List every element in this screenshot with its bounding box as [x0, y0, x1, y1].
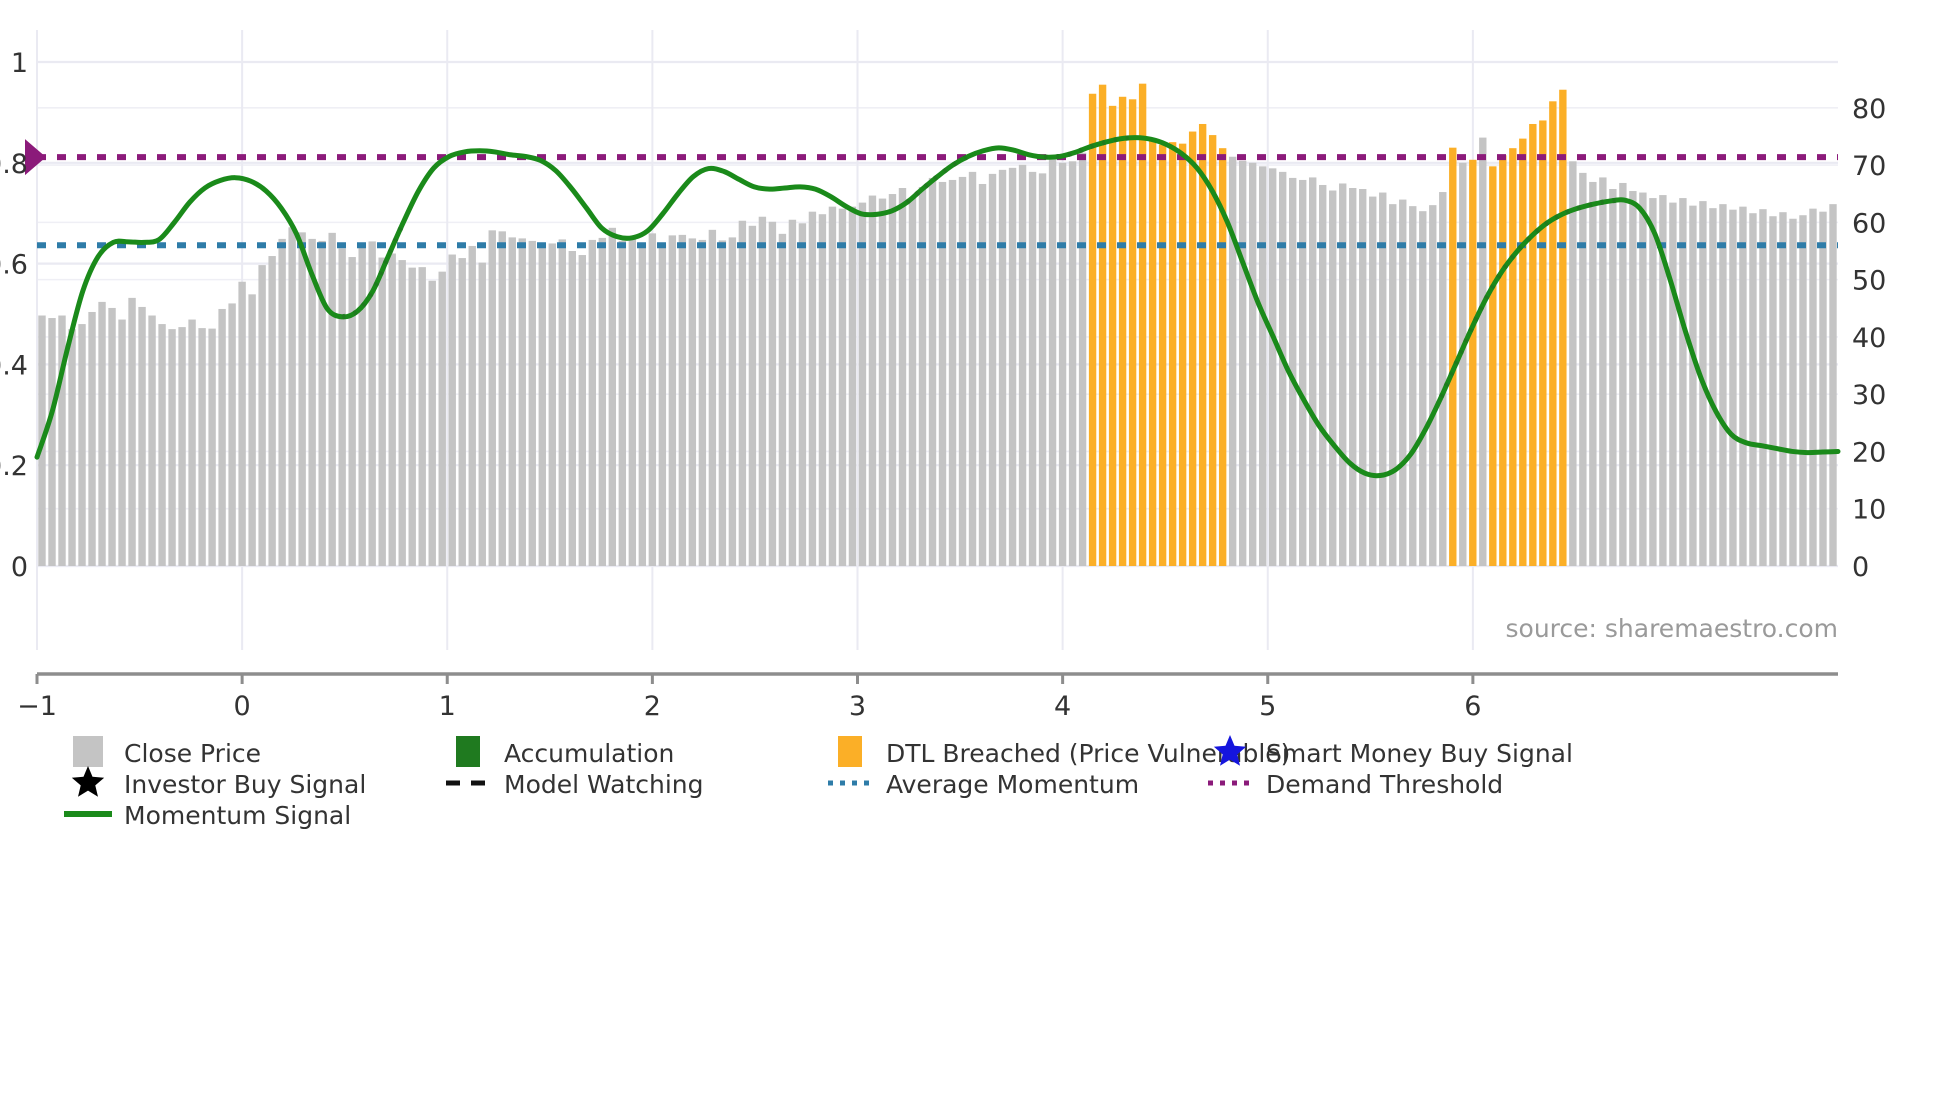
- bar-dtl-breached: [1489, 166, 1496, 566]
- bar-close-price: [1299, 180, 1306, 566]
- bar-close-price: [1709, 208, 1716, 566]
- bar-close-price: [148, 316, 155, 566]
- bar-close-price: [1409, 206, 1416, 566]
- bar-close-price: [459, 258, 466, 566]
- bar-close-price: [889, 194, 896, 566]
- bar-close-price: [969, 172, 976, 566]
- bar-close-price: [709, 230, 716, 566]
- bar-close-price: [749, 226, 756, 566]
- bar-close-price: [789, 220, 796, 566]
- y-axis-right-tick-label: 50: [1852, 266, 1886, 297]
- bar-close-price: [669, 235, 676, 566]
- bar-close-price: [268, 256, 275, 566]
- bar-close-price: [499, 231, 506, 566]
- bar-close-price: [358, 246, 365, 566]
- bar-close-price: [1689, 206, 1696, 566]
- bar-close-price: [719, 240, 726, 566]
- bar-close-price: [1009, 168, 1016, 566]
- bar-close-price: [1479, 138, 1486, 566]
- legend-label: Average Momentum: [886, 770, 1139, 799]
- bar-close-price: [1809, 209, 1816, 566]
- bar-close-price: [469, 246, 476, 566]
- bar-close-price: [999, 170, 1006, 566]
- bar-close-price: [378, 258, 385, 566]
- bar-close-price: [68, 329, 75, 566]
- bar-close-price: [909, 198, 916, 566]
- bar-close-price: [1819, 212, 1826, 566]
- legend-label: Smart Money Buy Signal: [1266, 739, 1573, 768]
- bar-close-price: [178, 327, 185, 566]
- bar-close-price: [1259, 166, 1266, 566]
- bar-close-price: [228, 303, 235, 566]
- bar-close-price: [1569, 161, 1576, 566]
- legend-label: Accumulation: [504, 739, 674, 768]
- bar-close-price: [98, 302, 105, 566]
- bar-dtl-breached: [1529, 124, 1536, 566]
- bar-close-price: [949, 180, 956, 566]
- bar-dtl-breached: [1159, 145, 1166, 566]
- x-axis-tick-label: 5: [1259, 691, 1276, 722]
- bar-close-price: [258, 265, 265, 566]
- bar-close-price: [218, 309, 225, 566]
- y-axis-left-tick-label: 0: [11, 552, 28, 583]
- bar-close-price: [1429, 205, 1436, 566]
- bar-close-price: [1079, 153, 1086, 566]
- y-axis-right-tick-label: 20: [1852, 437, 1886, 468]
- bar-close-price: [929, 178, 936, 566]
- y-axis-left-tick-label: 0.8: [0, 149, 28, 180]
- bar-close-price: [1319, 185, 1326, 566]
- bar-dtl-breached: [1509, 148, 1516, 566]
- legend-label: Investor Buy Signal: [124, 770, 366, 799]
- y-axis-right-tick-label: 10: [1852, 495, 1886, 526]
- bar-close-price: [549, 243, 556, 566]
- bar-close-price: [829, 207, 836, 566]
- x-axis-tick-label: 0: [234, 691, 251, 722]
- legend-label: Demand Threshold: [1266, 770, 1503, 799]
- bar-dtl-breached: [1539, 120, 1546, 566]
- bar-close-price: [449, 255, 456, 566]
- bar-close-price: [1599, 177, 1606, 566]
- bar-close-price: [1739, 207, 1746, 566]
- bar-dtl-breached: [1559, 90, 1566, 566]
- bar-close-price: [809, 212, 816, 566]
- bar-close-price: [729, 237, 736, 566]
- bar-dtl-breached: [1549, 101, 1556, 566]
- y-axis-right-tick-label: 60: [1852, 208, 1886, 239]
- bar-close-price: [278, 239, 285, 566]
- x-axis-tick-label: 6: [1464, 691, 1481, 722]
- bar-close-price: [298, 232, 305, 566]
- bar-close-price: [649, 233, 656, 566]
- bar-close-price: [699, 240, 706, 566]
- legend-square-swatch-icon: [73, 736, 103, 767]
- bar-close-price: [519, 238, 526, 566]
- bar-close-price: [399, 260, 406, 566]
- bar-close-price: [1629, 191, 1636, 566]
- bar-close-price: [1609, 189, 1616, 566]
- bar-close-price: [338, 248, 345, 566]
- bar-close-price: [1039, 173, 1046, 566]
- bar-close-price: [348, 257, 355, 566]
- y-axis-left-tick-label: 0.4: [0, 350, 28, 381]
- bar-close-price: [849, 207, 856, 566]
- x-axis-tick-label: 1: [439, 691, 456, 722]
- bar-close-price: [1419, 211, 1426, 566]
- bar-close-price: [78, 324, 85, 566]
- bar-close-price: [208, 329, 215, 566]
- bar-dtl-breached: [1149, 141, 1156, 566]
- bar-dtl-breached: [1519, 139, 1526, 566]
- bar-close-price: [1729, 210, 1736, 566]
- bar-close-price: [1679, 198, 1686, 566]
- y-axis-right-tick-label: 70: [1852, 151, 1886, 182]
- bar-close-price: [1059, 163, 1066, 566]
- bar-dtl-breached: [1119, 97, 1126, 566]
- bar-close-price: [1669, 203, 1676, 566]
- bar-close-price: [619, 241, 626, 566]
- bar-close-price: [1329, 191, 1336, 566]
- bar-close-price: [188, 320, 195, 566]
- bar-close-price: [158, 324, 165, 566]
- bar-close-price: [1749, 213, 1756, 566]
- bar-close-price: [779, 234, 786, 566]
- bar-close-price: [589, 240, 596, 566]
- y-axis-right-tick-label: 0: [1852, 552, 1869, 583]
- x-axis-tick-label: 3: [849, 691, 866, 722]
- bar-close-price: [409, 268, 416, 566]
- bar-close-price: [1019, 165, 1026, 566]
- chart-svg: −1012345600.20.40.60.8101020304050607080…: [0, 0, 1960, 1102]
- bar-close-price: [869, 196, 876, 566]
- bar-dtl-breached: [1189, 132, 1196, 566]
- bar-close-price: [769, 222, 776, 566]
- bar-close-price: [248, 294, 255, 566]
- bar-close-price: [1349, 188, 1356, 566]
- bar-close-price: [609, 228, 616, 566]
- bar-close-price: [1459, 163, 1466, 566]
- bar-dtl-breached: [1199, 124, 1206, 566]
- bar-close-price: [1069, 161, 1076, 566]
- bar-close-price: [989, 174, 996, 566]
- bar-close-price: [489, 230, 496, 566]
- bar-close-price: [1779, 212, 1786, 566]
- bar-dtl-breached: [1089, 94, 1096, 566]
- bar-close-price: [1309, 177, 1316, 566]
- bar-dtl-breached: [1499, 155, 1506, 566]
- bar-close-price: [1029, 172, 1036, 566]
- bar-close-price: [1399, 200, 1406, 566]
- y-axis-left-tick-label: 1: [11, 48, 28, 79]
- bar-close-price: [1379, 193, 1386, 566]
- legend-label: Momentum Signal: [124, 801, 351, 830]
- bar-dtl-breached: [1169, 142, 1176, 566]
- legend-label: Model Watching: [504, 770, 704, 799]
- bar-close-price: [1759, 209, 1766, 566]
- bar-close-price: [759, 217, 766, 566]
- bar-close-price: [108, 308, 115, 566]
- bar-dtl-breached: [1449, 148, 1456, 566]
- bar-close-price: [559, 239, 566, 566]
- bar-close-price: [939, 182, 946, 566]
- bar-close-price: [128, 298, 135, 566]
- bar-close-price: [599, 238, 606, 566]
- bar-close-price: [479, 263, 486, 566]
- legend-square-swatch-icon: [838, 736, 862, 767]
- bar-close-price: [328, 233, 335, 566]
- bar-close-price: [1579, 173, 1586, 566]
- bar-close-price: [1719, 204, 1726, 566]
- y-axis-right-tick-label: 80: [1852, 94, 1886, 125]
- bar-close-price: [1829, 204, 1836, 566]
- bar-close-price: [238, 282, 245, 566]
- bar-close-price: [1239, 161, 1246, 566]
- bar-close-price: [88, 312, 95, 566]
- bar-close-price: [1049, 158, 1056, 566]
- bar-close-price: [739, 221, 746, 566]
- bar-close-price: [879, 199, 886, 566]
- bar-close-price: [1389, 204, 1396, 566]
- bar-dtl-breached: [1109, 106, 1116, 566]
- bar-close-price: [1339, 183, 1346, 566]
- bar-dtl-breached: [1469, 160, 1476, 566]
- bar-close-price: [118, 320, 125, 566]
- bar-close-price: [679, 235, 686, 566]
- bar-close-price: [389, 254, 396, 566]
- bar-close-price: [1249, 163, 1256, 566]
- bar-close-price: [799, 223, 806, 566]
- bar-close-price: [959, 177, 966, 566]
- bar-dtl-breached: [1179, 144, 1186, 566]
- source-label: source: sharemaestro.com: [1506, 614, 1839, 643]
- bar-close-price: [1649, 198, 1656, 566]
- x-axis-tick-label: 2: [644, 691, 661, 722]
- bar-close-price: [48, 318, 55, 566]
- bar-close-price: [1639, 193, 1646, 566]
- bar-close-price: [629, 239, 636, 566]
- legend-label: Close Price: [124, 739, 261, 768]
- bar-close-price: [569, 251, 576, 566]
- bar-close-price: [168, 329, 175, 566]
- bar-close-price: [839, 209, 846, 566]
- bar-close-price: [288, 227, 295, 566]
- bar-close-price: [659, 244, 666, 566]
- chart-figure: −1012345600.20.40.60.8101020304050607080…: [0, 0, 1960, 1102]
- bar-close-price: [1369, 197, 1376, 566]
- bar-close-price: [1229, 157, 1236, 566]
- bar-close-price: [439, 272, 446, 566]
- bar-close-price: [1799, 215, 1806, 566]
- bar-close-price: [1589, 182, 1596, 566]
- x-axis-tick-label: −1: [17, 691, 57, 722]
- bar-close-price: [539, 245, 546, 566]
- bar-close-price: [979, 184, 986, 566]
- bar-close-price: [419, 267, 426, 566]
- y-axis-left-tick-label: 0.2: [0, 451, 28, 482]
- bar-close-price: [198, 328, 205, 566]
- bar-close-price: [138, 307, 145, 566]
- bar-close-price: [1619, 183, 1626, 566]
- bar-close-price: [689, 238, 696, 566]
- y-axis-right-tick-label: 40: [1852, 323, 1886, 354]
- bar-close-price: [579, 255, 586, 566]
- y-axis-left-tick-label: 0.6: [0, 250, 28, 281]
- bar-close-price: [819, 214, 826, 566]
- bar-close-price: [1789, 219, 1796, 566]
- bar-close-price: [859, 203, 866, 566]
- bar-close-price: [529, 241, 536, 566]
- bar-close-price: [639, 243, 646, 566]
- legend-square-swatch-icon: [456, 736, 480, 767]
- y-axis-right-tick-label: 30: [1852, 380, 1886, 411]
- bar-close-price: [429, 281, 436, 566]
- bar-close-price: [1269, 168, 1276, 566]
- bar-dtl-breached: [1129, 99, 1136, 566]
- x-axis-tick-label: 4: [1054, 691, 1071, 722]
- bar-close-price: [1769, 216, 1776, 566]
- bar-close-price: [509, 237, 516, 566]
